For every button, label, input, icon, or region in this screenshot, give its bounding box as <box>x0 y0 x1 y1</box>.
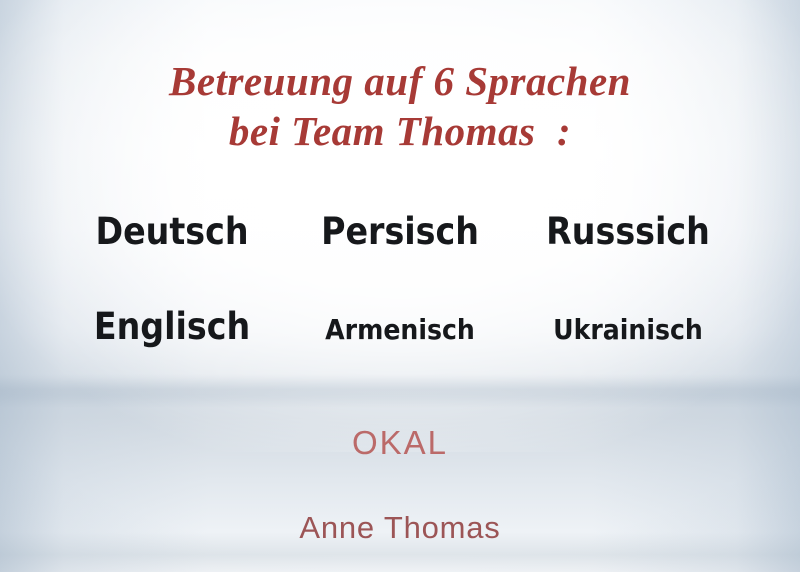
language-grid: Deutsch Persisch Russsich Englisch Armen… <box>58 210 742 348</box>
language-armenisch: Armenisch <box>286 313 514 346</box>
title-line-1: Betreuung auf 6 Sprachen <box>0 56 800 106</box>
slide-content: Betreuung auf 6 Sprachen bei Team Thomas… <box>0 0 800 572</box>
language-deutsch: Deutsch <box>58 210 286 253</box>
slide-canvas: Betreuung auf 6 Sprachen bei Team Thomas… <box>0 0 800 572</box>
language-row-2: Englisch Armenisch Ukrainisch <box>58 305 742 348</box>
title-line-2: bei Team Thomas : <box>0 106 800 156</box>
language-englisch: Englisch <box>58 305 286 348</box>
language-persisch: Persisch <box>286 210 514 253</box>
signature-anne-thomas: Anne Thomas <box>0 510 800 546</box>
language-row-1: Deutsch Persisch Russsich <box>58 210 742 253</box>
language-russsich: Russsich <box>514 210 742 253</box>
brand-okal: OKAL <box>0 424 800 462</box>
title-block: Betreuung auf 6 Sprachen bei Team Thomas… <box>0 56 800 156</box>
language-ukrainisch: Ukrainisch <box>514 313 742 346</box>
